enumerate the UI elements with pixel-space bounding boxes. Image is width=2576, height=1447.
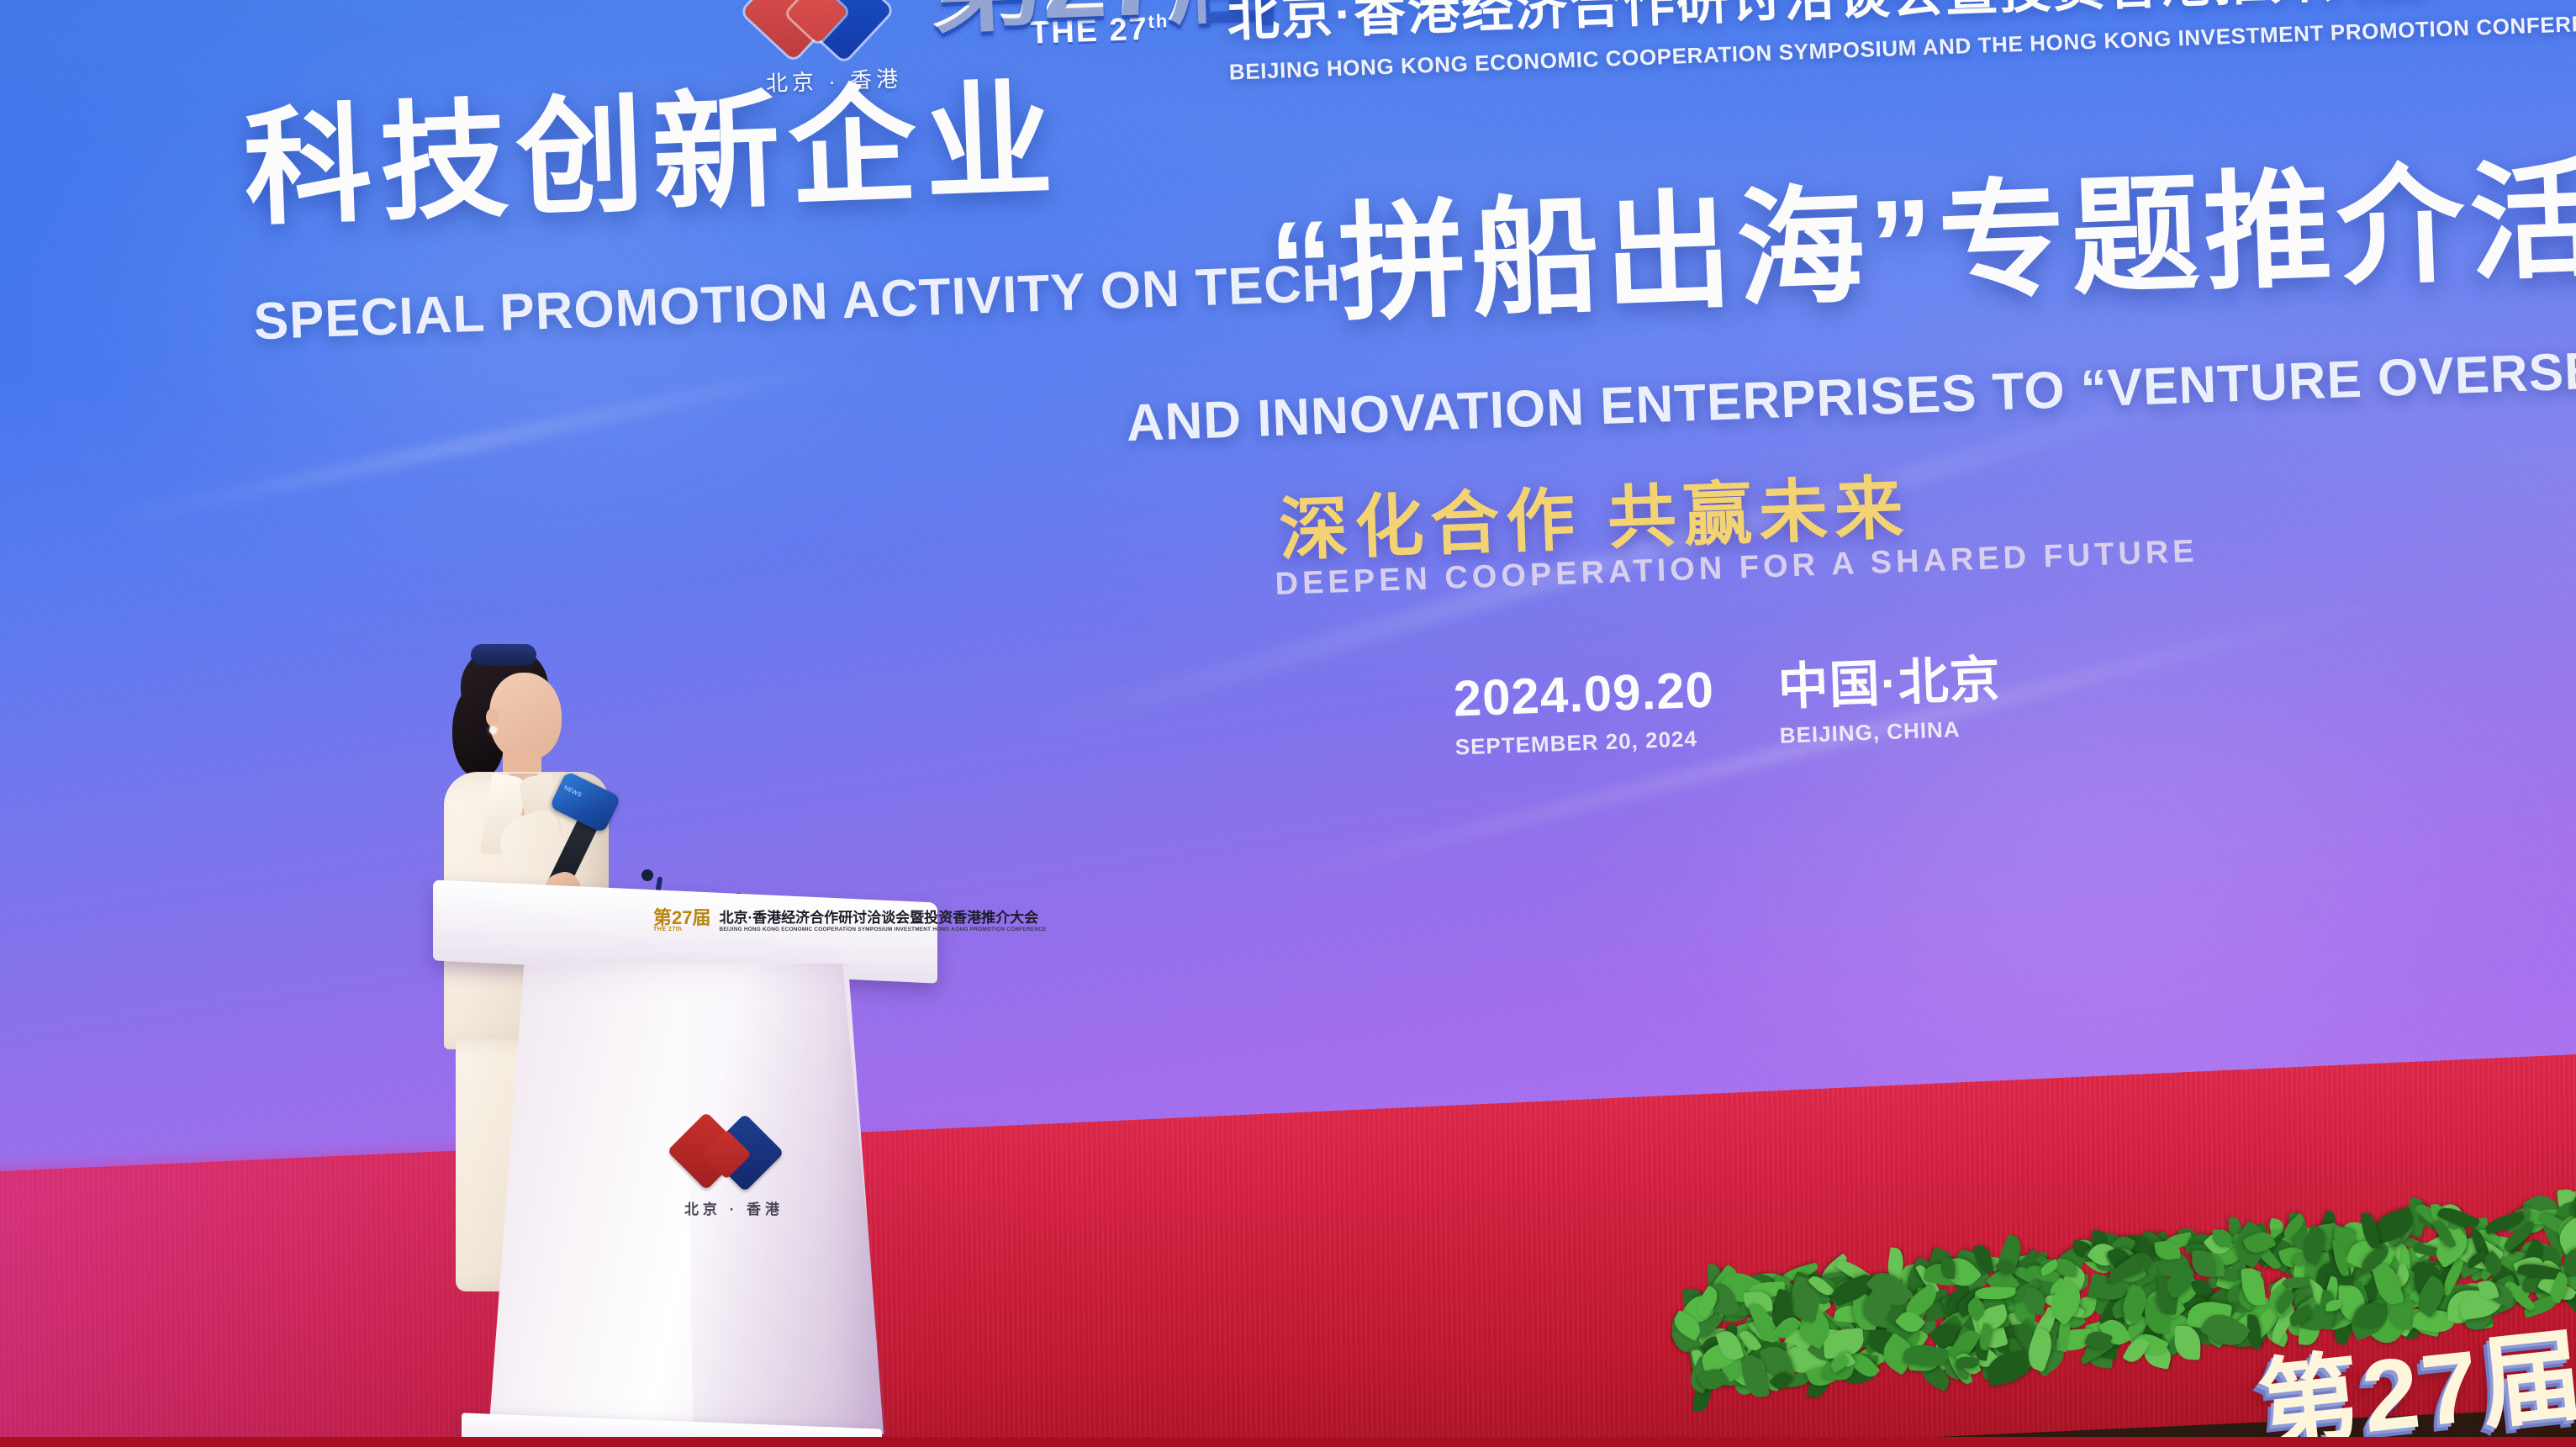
main-title-cn-part1: 科技创新企业	[240, 36, 1064, 251]
event-date-en: SEPTEMBER 20, 2024	[1454, 725, 1716, 760]
podium-mic-head	[641, 869, 653, 881]
speaker-hair-band	[471, 644, 536, 666]
podium-banner-en: BEIJING HONG KONG ECONOMIC COOPERATION S…	[719, 927, 1046, 932]
podium-banner-text: 北京·香港经济合作研讨洽谈会暨投资香港推介大会 BEIJING HONG KON…	[719, 910, 1046, 932]
podium-logo-caption: 北京 · 香港	[667, 1197, 801, 1218]
speaker-earring	[489, 726, 497, 734]
event-place: 中国·北京 BEIJING, CHINA	[1777, 654, 2003, 748]
conference-stage-photo: 北京 · 香港 第27届 THE 27th 北京·香港经济合作研讨洽谈会暨投资香…	[0, 0, 2576, 1447]
main-title-en-line1: SPECIAL PROMOTION ACTIVITY ON TECH	[253, 253, 1342, 351]
podium-logo: 北京 · 香港	[667, 1118, 801, 1218]
podium: 第27届 THE 27th 北京·香港经济合作研讨洽谈会暨投资香港推介大会 BE…	[433, 891, 954, 1447]
podium-diamond-logo-icon	[675, 1118, 793, 1196]
microphone-label: NEWS	[562, 785, 582, 799]
event-info: 2024.09.20 SEPTEMBER 20, 2024 中国·北京 BEIJ…	[1453, 654, 2003, 760]
stage-edge	[0, 1437, 2576, 1447]
event-place-cn: 中国·北京	[1777, 654, 2002, 712]
podium-banner: 第27届 THE 27th 北京·香港经济合作研讨洽谈会暨投资香港推介大会 BE…	[653, 910, 922, 933]
event-date: 2024.09.20 SEPTEMBER 20, 2024	[1453, 665, 1717, 761]
speaker-ear	[486, 708, 499, 726]
edition-cn: 第27届	[925, 0, 1206, 40]
speaker-face	[489, 673, 562, 760]
podium-banner-cn: 北京·香港经济合作研讨洽谈会暨投资香港推介大会	[719, 910, 1046, 927]
podium-edition-badge: 第27届 THE 27th	[653, 910, 710, 933]
main-title-cn-part2: “拼船出海”专题推介活动	[1266, 111, 2576, 348]
backdrop-header: 北京·香港经济合作研讨洽谈会暨投资香港推介大会 BEIJING HONG KON…	[1226, 0, 2263, 86]
event-place-en: BEIJING, CHINA	[1779, 715, 2003, 748]
event-date-cn: 2024.09.20	[1453, 665, 1715, 725]
podium-edition-badge-cn: 第27届	[653, 907, 710, 928]
